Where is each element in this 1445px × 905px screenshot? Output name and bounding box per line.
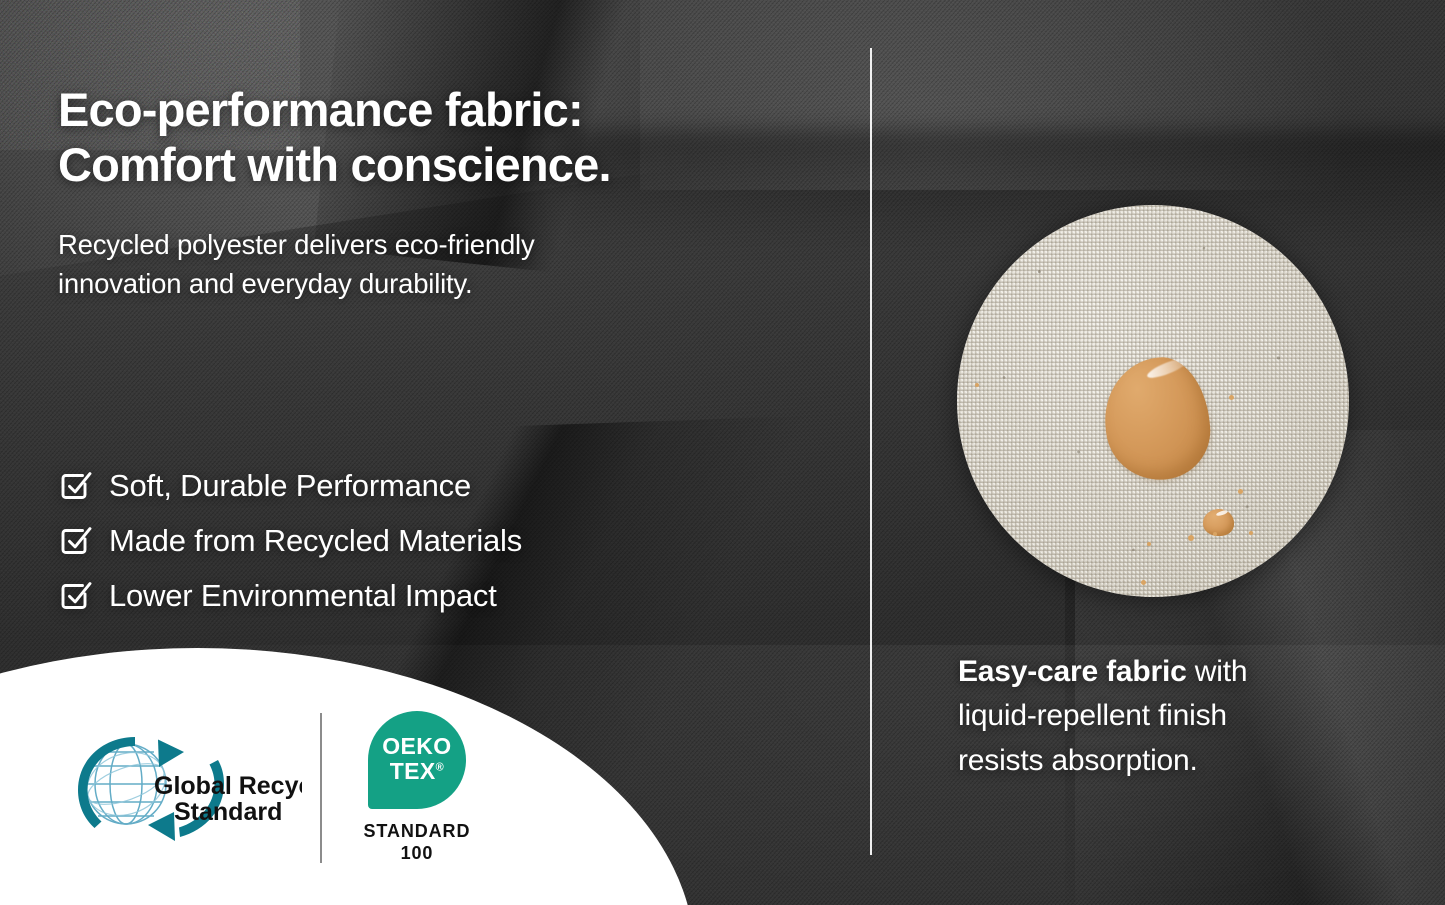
caption-line-3: resists absorption.	[958, 739, 1388, 783]
oeko-tex-standard-number: 100	[401, 842, 434, 865]
list-item: Lower Environmental Impact	[58, 568, 758, 623]
headline-line-1: Eco-performance fabric:	[58, 83, 848, 138]
oeko-tex-badge: OEKO TEX® STANDARD 100	[364, 711, 471, 865]
oeko-tex-line-2: TEX®	[390, 759, 444, 784]
right-caption: Easy-care fabric with liquid-repellent f…	[958, 650, 1388, 783]
caption-line-2: liquid-repellent finish	[958, 694, 1388, 738]
global-recycled-standard-logo: Global Recycled Standard	[62, 724, 302, 852]
feature-label: Soft, Durable Performance	[109, 470, 471, 501]
subheading: Recycled polyester delivers eco-friendly…	[58, 226, 698, 303]
subheading-line-1: Recycled polyester delivers eco-friendly	[58, 226, 698, 265]
liquid-fleck	[1141, 580, 1146, 585]
liquid-fleck	[1147, 542, 1151, 546]
caption-line-1-rest: with	[1187, 655, 1248, 688]
grs-line-1: Global Recycled	[154, 772, 302, 800]
liquid-droplet-small	[1203, 509, 1234, 536]
registered-mark-icon: ®	[436, 761, 445, 773]
logo-separator	[320, 713, 322, 863]
feature-label: Lower Environmental Impact	[109, 580, 497, 611]
liquid-repellency-inset-photo	[957, 205, 1349, 597]
checkbox-check-icon	[58, 525, 92, 557]
liquid-fleck	[1188, 535, 1194, 541]
certification-logos: Global Recycled Standard OEKO TEX® STAND…	[0, 700, 560, 875]
liquid-fleck	[975, 383, 979, 387]
list-item: Made from Recycled Materials	[58, 513, 758, 568]
vertical-divider	[870, 48, 872, 855]
headline-line-2: Comfort with conscience.	[58, 138, 848, 193]
grs-line-2: Standard	[174, 798, 282, 826]
caption-bold-phrase: Easy-care fabric	[958, 655, 1187, 688]
product-infographic: Eco-performance fabric: Comfort with con…	[0, 0, 1445, 905]
checkbox-check-icon	[58, 470, 92, 502]
liquid-fleck	[1249, 531, 1253, 535]
list-item: Soft, Durable Performance	[58, 458, 758, 513]
liquid-fleck	[1238, 489, 1243, 494]
liquid-fleck	[1213, 532, 1217, 536]
feature-checklist: Soft, Durable Performance Made from Recy…	[58, 458, 758, 623]
oeko-tex-line-1: OEKO	[382, 735, 451, 758]
feature-label: Made from Recycled Materials	[109, 525, 522, 556]
page-title: Eco-performance fabric: Comfort with con…	[58, 83, 848, 193]
checkbox-check-icon	[58, 580, 92, 612]
caption-line-1: Easy-care fabric with	[958, 650, 1388, 694]
oeko-tex-droplet-icon: OEKO TEX®	[368, 711, 466, 809]
oeko-tex-standard-label: STANDARD	[364, 820, 471, 843]
liquid-fleck	[1229, 395, 1234, 400]
subheading-line-2: innovation and everyday durability.	[58, 265, 698, 304]
